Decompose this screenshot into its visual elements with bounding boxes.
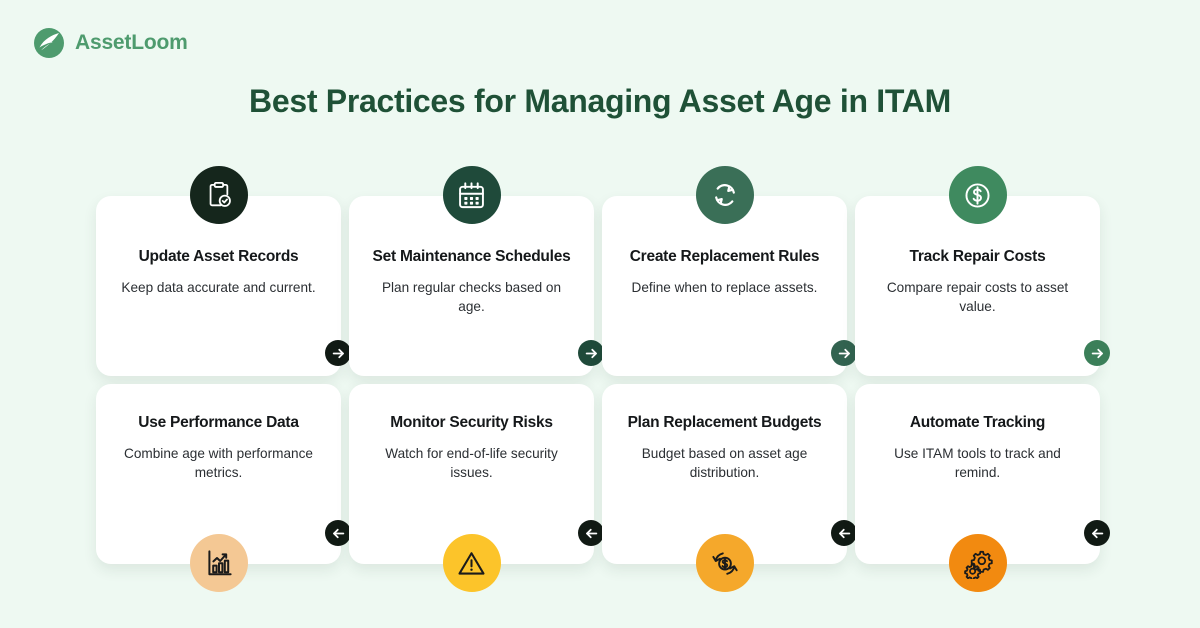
brand-name: AssetLoom <box>75 31 188 55</box>
practice-card[interactable]: Update Asset RecordsKeep data accurate a… <box>96 196 341 376</box>
arrow-left-icon[interactable] <box>831 520 857 546</box>
card-description: Combine age with performance metrics. <box>112 444 325 483</box>
card-description: Keep data accurate and current. <box>121 278 315 297</box>
card-description: Compare repair costs to asset value. <box>873 278 1082 317</box>
practice-card[interactable]: Monitor Security RisksWatch for end-of-l… <box>349 384 594 564</box>
card-title: Plan Replacement Budgets <box>628 414 822 433</box>
arrow-left-icon[interactable] <box>325 520 351 546</box>
money-cycle-icon <box>696 534 754 592</box>
arrow-right-icon[interactable] <box>325 340 351 366</box>
practice-card[interactable]: Set Maintenance SchedulesPlan regular ch… <box>349 196 594 376</box>
arrow-left-icon[interactable] <box>1084 520 1110 546</box>
card-title: Set Maintenance Schedules <box>373 248 571 267</box>
card-title: Create Replacement Rules <box>630 248 820 267</box>
infographic-canvas: AssetLoom Best Practices for Managing As… <box>0 0 1200 628</box>
practice-card[interactable]: Track Repair CostsCompare repair costs t… <box>855 196 1100 376</box>
arrow-right-icon[interactable] <box>831 340 857 366</box>
card-title: Automate Tracking <box>910 414 1045 433</box>
card-description: Define when to replace assets. <box>632 278 818 297</box>
arrow-right-icon[interactable] <box>1084 340 1110 366</box>
practice-card[interactable]: Plan Replacement BudgetsBudget based on … <box>602 384 847 564</box>
warning-triangle-icon <box>443 534 501 592</box>
bar-chart-trend-icon <box>190 534 248 592</box>
dollar-coin-icon <box>949 166 1007 224</box>
card-description: Plan regular checks based on age. <box>367 278 576 317</box>
card-description: Use ITAM tools to track and remind. <box>871 444 1084 483</box>
practice-card[interactable]: Use Performance DataCombine age with per… <box>96 384 341 564</box>
card-title: Monitor Security Risks <box>390 414 552 433</box>
arrow-right-icon[interactable] <box>578 340 604 366</box>
arrow-left-icon[interactable] <box>578 520 604 546</box>
gears-icon <box>949 534 1007 592</box>
card-description: Watch for end-of-life security issues. <box>365 444 578 483</box>
clipboard-check-icon <box>190 166 248 224</box>
leaf-circle-icon <box>32 26 66 60</box>
page-title: Best Practices for Managing Asset Age in… <box>0 83 1200 120</box>
practice-card-grid: Update Asset RecordsKeep data accurate a… <box>96 196 1104 564</box>
practice-card[interactable]: Create Replacement RulesDefine when to r… <box>602 196 847 376</box>
refresh-cycle-icon <box>696 166 754 224</box>
practice-card[interactable]: Automate TrackingUse ITAM tools to track… <box>855 384 1100 564</box>
brand-logo[interactable]: AssetLoom <box>32 26 188 60</box>
card-title: Use Performance Data <box>138 414 298 433</box>
card-title: Track Repair Costs <box>910 248 1046 267</box>
calendar-icon <box>443 166 501 224</box>
card-title: Update Asset Records <box>139 248 299 267</box>
card-description: Budget based on asset age distribution. <box>618 444 831 483</box>
